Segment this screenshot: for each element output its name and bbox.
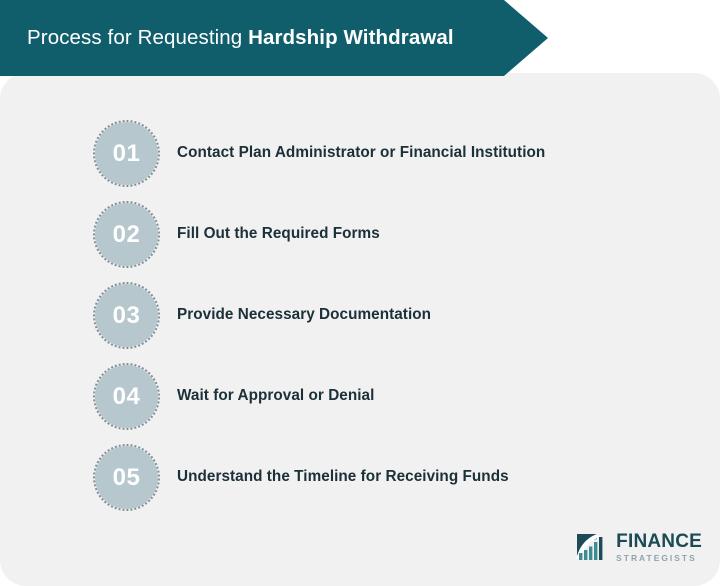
step-row: 05 Understand the Timeline for Receiving… xyxy=(0,437,720,518)
infographic-root: Process for Requesting Hardship Withdraw… xyxy=(0,0,720,586)
step-number: 03 xyxy=(113,304,141,328)
step-badge-04: 04 xyxy=(95,365,158,428)
step-label: Wait for Approval or Denial xyxy=(177,387,374,405)
bar-chart-arrow-icon xyxy=(575,531,609,563)
step-badge-03: 03 xyxy=(95,284,158,347)
step-label: Understand the Timeline for Receiving Fu… xyxy=(177,468,509,486)
logo-tagline: STRATEGISTS xyxy=(616,554,702,562)
step-badge-05: 05 xyxy=(95,446,158,509)
step-label: Contact Plan Administrator or Financial … xyxy=(177,144,545,162)
step-label: Provide Necessary Documentation xyxy=(177,306,431,324)
step-badge-02: 02 xyxy=(95,203,158,266)
page-title-bold: Hardship Withdrawal xyxy=(248,26,454,49)
page-title-regular: Process for Requesting xyxy=(27,26,248,49)
step-label: Fill Out the Required Forms xyxy=(177,225,380,243)
step-badge-01: 01 xyxy=(95,122,158,185)
steps-list: 01 Contact Plan Administrator or Financi… xyxy=(0,73,720,518)
logo-text: FINANCE STRATEGISTS xyxy=(616,532,702,562)
step-number: 02 xyxy=(113,223,141,247)
logo-name: FINANCE xyxy=(616,532,702,551)
step-row: 04 Wait for Approval or Denial xyxy=(0,356,720,437)
page-title: Process for Requesting Hardship Withdraw… xyxy=(0,28,454,49)
step-row: 03 Provide Necessary Documentation xyxy=(0,275,720,356)
step-row: 02 Fill Out the Required Forms xyxy=(0,194,720,275)
step-number: 05 xyxy=(113,466,141,490)
step-number: 04 xyxy=(113,385,141,409)
step-number: 01 xyxy=(113,142,141,166)
brand-logo: FINANCE STRATEGISTS xyxy=(575,530,702,564)
step-row: 01 Contact Plan Administrator or Financi… xyxy=(0,113,720,194)
header-banner: Process for Requesting Hardship Withdraw… xyxy=(0,0,548,76)
